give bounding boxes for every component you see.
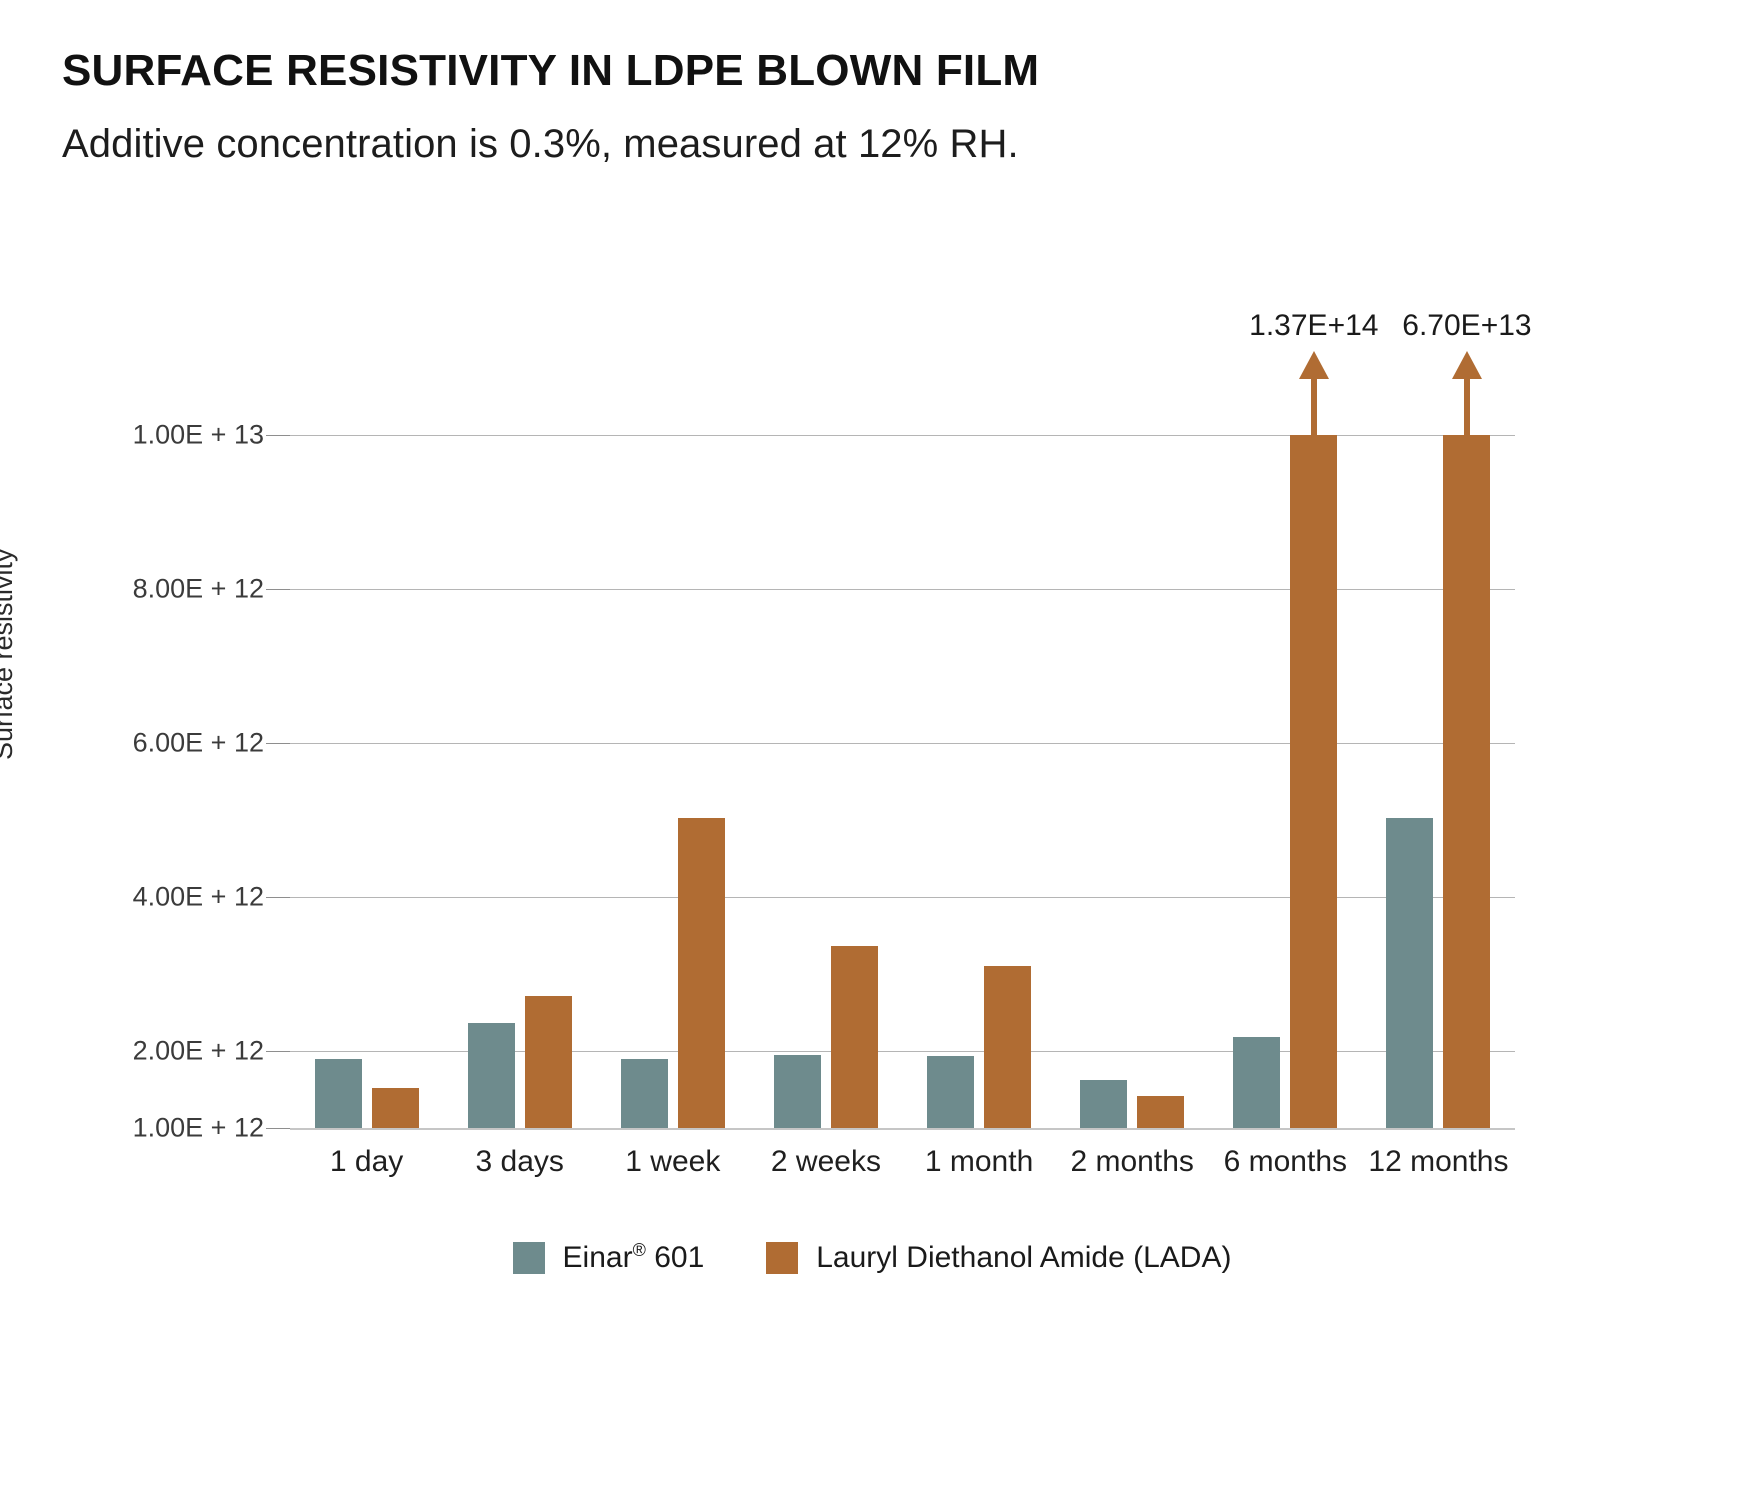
bar[interactable] xyxy=(1233,1037,1280,1128)
bar[interactable] xyxy=(678,818,725,1128)
x-axis-tick-label: 3 days xyxy=(475,1145,563,1179)
bar-group xyxy=(315,435,419,1128)
legend-swatch-icon xyxy=(513,1242,545,1274)
legend-item[interactable]: Einar® 601 xyxy=(513,1240,705,1275)
bar-group xyxy=(468,435,572,1128)
bar-group xyxy=(927,435,1031,1128)
bar-value-label: 1.37E+14 xyxy=(1249,309,1378,343)
gridline xyxy=(290,1128,1515,1130)
x-axis-tick-label: 1 month xyxy=(925,1145,1033,1179)
y-axis-tick xyxy=(266,743,290,744)
bar-value-label: 6.70E+13 xyxy=(1402,309,1531,343)
legend-label: Lauryl Diethanol Amide (LADA) xyxy=(816,1241,1231,1275)
y-axis-tick-label: 1.00E + 12 xyxy=(133,1113,264,1144)
legend-label: Einar® 601 xyxy=(563,1240,705,1275)
y-axis-tick xyxy=(266,1128,290,1129)
page-subtitle: Additive concentration is 0.3%, measured… xyxy=(62,122,1019,167)
bar[interactable] xyxy=(831,946,878,1128)
overflow-arrow-icon xyxy=(1464,377,1470,435)
bar[interactable] xyxy=(1290,435,1337,1128)
page-title: SURFACE RESISTIVITY IN LDPE BLOWN FILM xyxy=(62,46,1039,96)
overflow-arrow-icon xyxy=(1311,377,1317,435)
bar[interactable] xyxy=(1080,1080,1127,1128)
bar[interactable] xyxy=(315,1059,362,1128)
bar[interactable] xyxy=(1137,1096,1184,1128)
y-axis-title: Surface resistivity xyxy=(0,548,19,760)
bar[interactable] xyxy=(984,966,1031,1128)
bar[interactable] xyxy=(774,1055,821,1128)
bar[interactable] xyxy=(1443,435,1490,1128)
y-axis-tick xyxy=(266,897,290,898)
bar-group xyxy=(774,435,878,1128)
x-axis-tick-label: 2 weeks xyxy=(771,1145,881,1179)
y-axis-labels: 1.00E + 138.00E + 126.00E + 124.00E + 12… xyxy=(60,435,264,1128)
x-axis-tick-label: 6 months xyxy=(1224,1145,1347,1179)
legend-item[interactable]: Lauryl Diethanol Amide (LADA) xyxy=(766,1241,1231,1275)
legend-swatch-icon xyxy=(766,1242,798,1274)
bar[interactable] xyxy=(1386,818,1433,1128)
y-axis-tick-label: 2.00E + 12 xyxy=(133,1036,264,1067)
y-axis-tick-label: 8.00E + 12 xyxy=(133,574,264,605)
y-axis-tick-label: 6.00E + 12 xyxy=(133,728,264,759)
plot-area: 1.37E+146.70E+13 xyxy=(290,435,1515,1128)
y-axis-tick xyxy=(266,435,290,436)
bar[interactable] xyxy=(525,996,572,1128)
bar[interactable] xyxy=(372,1088,419,1128)
x-axis-labels: 1 day3 days1 week2 weeks1 month2 months6… xyxy=(290,1145,1515,1205)
bar[interactable] xyxy=(621,1059,668,1128)
y-axis-tick-label: 1.00E + 13 xyxy=(133,420,264,451)
bar-group xyxy=(621,435,725,1128)
bar[interactable] xyxy=(927,1056,974,1128)
x-axis-tick-label: 2 months xyxy=(1070,1145,1193,1179)
y-axis-tick xyxy=(266,589,290,590)
x-axis-tick-label: 1 week xyxy=(625,1145,720,1179)
y-axis-tick xyxy=(266,1051,290,1052)
bar[interactable] xyxy=(468,1023,515,1128)
y-axis-tick-label: 4.00E + 12 xyxy=(133,882,264,913)
x-axis-tick-label: 12 months xyxy=(1368,1145,1508,1179)
chart-legend: Einar® 601Lauryl Diethanol Amide (LADA) xyxy=(0,1240,1744,1275)
x-axis-tick-label: 1 day xyxy=(330,1145,403,1179)
chart-page: SURFACE RESISTIVITY IN LDPE BLOWN FILM A… xyxy=(0,0,1744,1487)
bar-group: 1.37E+14 xyxy=(1233,435,1337,1128)
bar-group: 6.70E+13 xyxy=(1386,435,1490,1128)
bar-group xyxy=(1080,435,1184,1128)
